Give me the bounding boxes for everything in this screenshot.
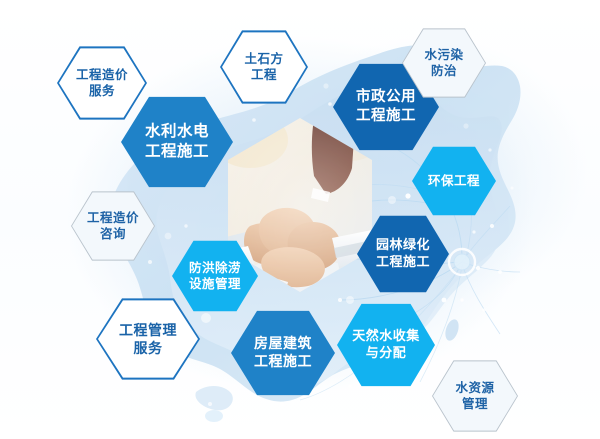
- hexagon-label: 水污染防治: [402, 28, 486, 98]
- hexagon-water-resource-management[interactable]: 水资源管理: [432, 360, 518, 432]
- hexagon-label-line: 工程管理: [119, 321, 177, 339]
- hexagon-engineering-cost-consulting[interactable]: 工程造价咨询: [71, 191, 155, 261]
- hexagon-label-line: 工程: [251, 67, 277, 83]
- hexagon-label-line: 天然水收集: [352, 328, 420, 345]
- graphic-canvas: 工程造价服务土石方工程水利水电工程施工市政公用工程施工水污染防治环保工程工程造价…: [0, 0, 600, 439]
- hexagon-label-line: 防治: [431, 63, 457, 79]
- hexagon-label-line: 管理: [462, 396, 488, 412]
- hexagon-label-line: 设施管理: [189, 276, 241, 292]
- hexagon-label-line: 咨询: [100, 226, 126, 242]
- hexagon-label-line: 水资源: [455, 380, 494, 396]
- hexagon-label-line: 土石方: [244, 51, 283, 67]
- hexagon-label-line: 水污染: [424, 47, 463, 63]
- hexagon-label-line: 工程施工: [356, 107, 416, 126]
- hexagon-engineering-cost-service[interactable]: 工程造价服务: [57, 46, 147, 120]
- hexagon-label: 工程造价咨询: [71, 191, 155, 261]
- hexagon-label-line: 水利水电: [145, 122, 209, 142]
- hexagon-label-line: 与分配: [366, 345, 407, 362]
- hexagon-label-line: 工程施工: [254, 353, 312, 371]
- hexagon-label: 工程管理服务: [96, 298, 200, 380]
- hexagon-label: 土石方工程: [220, 30, 308, 104]
- hexagon-label-line: 工程施工: [145, 142, 209, 162]
- hexagon-label-line: 服务: [89, 83, 115, 99]
- hexagon-water-pollution-control[interactable]: 水污染防治: [402, 28, 486, 98]
- hexagon-label-line: 工程造价: [87, 210, 139, 226]
- hexagon-label-line: 环保工程: [428, 173, 480, 189]
- hexagon-engineering-management-service[interactable]: 工程管理服务: [96, 298, 200, 380]
- hexagon-label-line: 服务: [134, 339, 163, 357]
- hexagon-earthwork-engineering[interactable]: 土石方工程: [220, 30, 308, 104]
- hexagon-label-line: 房屋建筑: [254, 335, 312, 353]
- hexagon-label-line: 园林绿化: [376, 237, 430, 254]
- hexagon-label-line: 工程施工: [376, 254, 430, 271]
- hexagon-label: 水资源管理: [432, 360, 518, 432]
- hexagon-label: 工程造价服务: [57, 46, 147, 120]
- hexagon-label-line: 防洪除涝: [189, 260, 241, 276]
- hexagon-label-line: 工程造价: [76, 67, 128, 83]
